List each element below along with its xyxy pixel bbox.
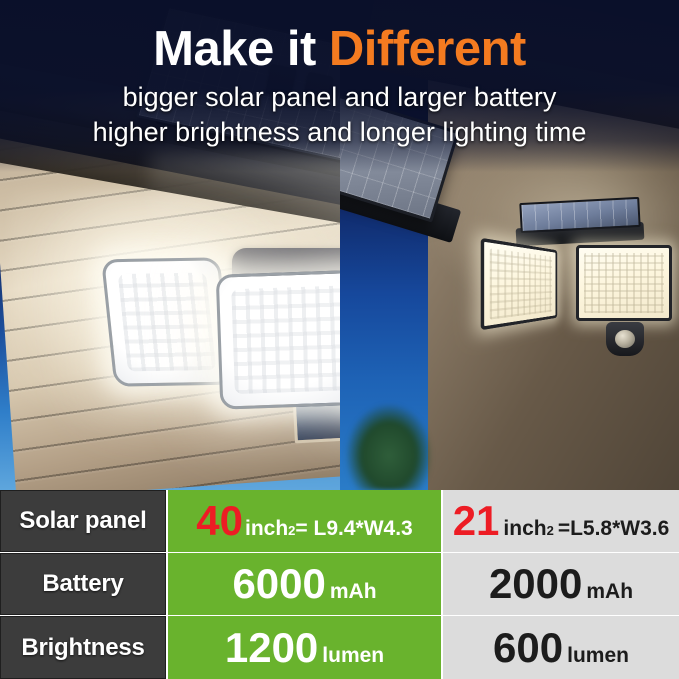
ours-cell-brightness: 1200 lumen bbox=[168, 616, 441, 679]
lamp-head-center bbox=[216, 269, 340, 409]
title-part-orange: Different bbox=[329, 22, 526, 76]
table-row-battery: Battery 6000 mAh 2000 mAh bbox=[0, 553, 679, 615]
lamp-head-center bbox=[576, 245, 672, 321]
ours-value-battery: 6000 bbox=[232, 563, 325, 605]
tree-silhouette bbox=[346, 404, 432, 490]
table-row-brightness: Brightness 1200 lumen 600 lumen bbox=[0, 616, 679, 679]
theirs-unit-superscript-solar-panel: 2 bbox=[547, 524, 554, 537]
led-array bbox=[118, 272, 217, 371]
ours-unit-superscript-solar-panel: 2 bbox=[288, 524, 295, 537]
theirs-cell-battery: 2000 mAh bbox=[443, 553, 679, 615]
ours-unit-solar-panel: inch bbox=[245, 518, 288, 539]
ours-cell-solar-panel: 40 inch 2 = L9.4*W4.3 bbox=[168, 490, 441, 552]
theirs-value-brightness: 600 bbox=[493, 627, 563, 669]
row-label-solar-panel: Solar panel bbox=[0, 490, 166, 552]
page-title: Make it Different bbox=[0, 24, 679, 76]
row-label-battery: Battery bbox=[0, 553, 166, 615]
product-comparison-infographic: Make it Different bigger solar panel and… bbox=[0, 0, 679, 679]
small-solar-panel-icon bbox=[519, 197, 640, 233]
ours-value-brightness: 1200 bbox=[225, 627, 318, 669]
lamp-head-left bbox=[101, 257, 233, 386]
lamp-head-left bbox=[481, 238, 558, 331]
theirs-unit-solar-panel: inch bbox=[503, 518, 546, 539]
led-array bbox=[231, 285, 340, 394]
table-row-solar-panel: Solar panel 40 inch 2 = L9.4*W4.3 21 inc… bbox=[0, 490, 679, 552]
subtitle-line-1: bigger solar panel and larger battery bbox=[0, 80, 679, 115]
led-array bbox=[490, 248, 552, 319]
theirs-cell-solar-panel: 21 inch 2 =L5.8*W3.6 bbox=[443, 490, 679, 552]
title-part-white: Make it bbox=[153, 22, 329, 76]
theirs-unit-brightness: lumen bbox=[567, 645, 629, 666]
theirs-unit-battery: mAh bbox=[586, 581, 633, 602]
row-label-brightness: Brightness bbox=[0, 616, 166, 679]
led-array bbox=[584, 253, 664, 313]
hero-photo-area: Make it Different bigger solar panel and… bbox=[0, 0, 679, 490]
theirs-value-battery: 2000 bbox=[489, 563, 582, 605]
ours-unit-brightness: lumen bbox=[322, 645, 384, 666]
ours-detail-solar-panel: = L9.4*W4.3 bbox=[295, 518, 412, 539]
motion-sensor-icon bbox=[606, 322, 644, 356]
header-banner: Make it Different bigger solar panel and… bbox=[0, 0, 679, 172]
theirs-value-solar-panel: 21 bbox=[453, 500, 500, 542]
subtitle-line-2: higher brightness and longer lighting ti… bbox=[0, 115, 679, 150]
ours-value-solar-panel: 40 bbox=[196, 500, 243, 542]
comparison-table: Solar panel 40 inch 2 = L9.4*W4.3 21 inc… bbox=[0, 490, 679, 679]
theirs-detail-solar-panel: =L5.8*W3.6 bbox=[558, 518, 669, 539]
ours-unit-battery: mAh bbox=[330, 581, 377, 602]
ours-cell-battery: 6000 mAh bbox=[168, 553, 441, 615]
theirs-cell-brightness: 600 lumen bbox=[443, 616, 679, 679]
